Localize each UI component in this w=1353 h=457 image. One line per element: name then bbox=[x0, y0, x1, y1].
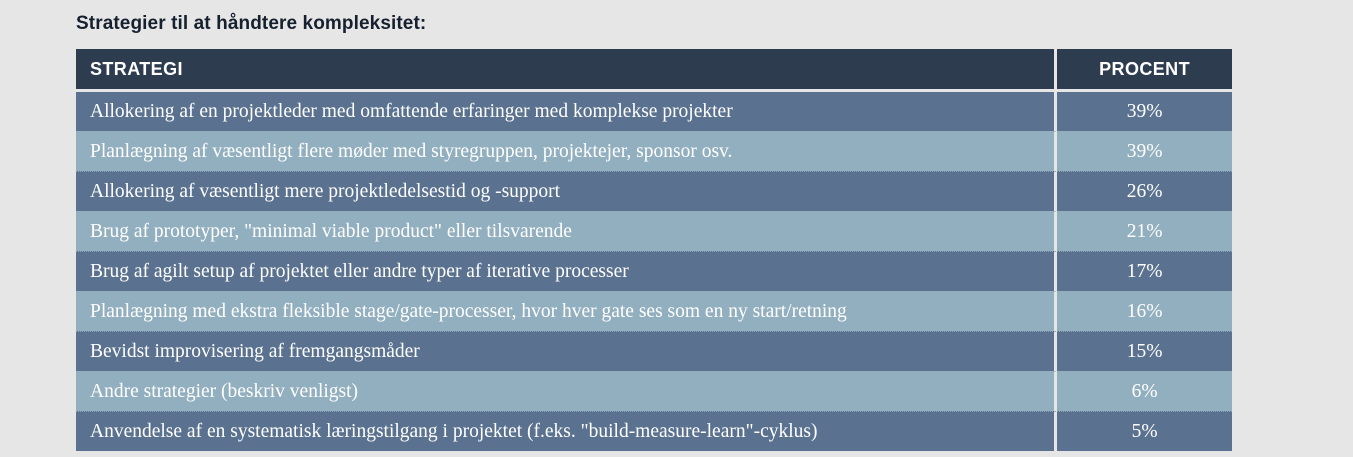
cell-strategy: Anvendelse af en systematisk læringstilg… bbox=[76, 411, 1057, 451]
table-row: Brug af prototyper, "minimal viable prod… bbox=[76, 211, 1232, 251]
cell-percent: 6% bbox=[1057, 371, 1232, 411]
table-head: STRATEGI PROCENT bbox=[76, 49, 1232, 89]
table-header-row: STRATEGI PROCENT bbox=[76, 49, 1232, 89]
cell-percent: 5% bbox=[1057, 411, 1232, 451]
page: Strategier til at håndtere kompleksitet:… bbox=[0, 0, 1353, 457]
cell-strategy: Planlægning med ekstra fleksible stage/g… bbox=[76, 291, 1057, 331]
cell-strategy: Allokering af væsentligt mere projektled… bbox=[76, 171, 1057, 211]
cell-percent: 39% bbox=[1057, 131, 1232, 171]
strategies-table: STRATEGI PROCENT Allokering af en projek… bbox=[76, 49, 1232, 451]
cell-strategy: Andre strategier (beskriv venligst) bbox=[76, 371, 1057, 411]
cell-strategy: Brug af agilt setup af projektet eller a… bbox=[76, 251, 1057, 291]
cell-strategy: Bevidst improvisering af fremgangsmåder bbox=[76, 331, 1057, 371]
table-row: Allokering af en projektleder med omfatt… bbox=[76, 89, 1232, 131]
cell-strategy: Allokering af en projektleder med omfatt… bbox=[76, 89, 1057, 131]
table-row: Anvendelse af en systematisk læringstilg… bbox=[76, 411, 1232, 451]
table-body: Allokering af en projektleder med omfatt… bbox=[76, 89, 1232, 451]
cell-strategy: Brug af prototyper, "minimal viable prod… bbox=[76, 211, 1057, 251]
column-header-percent: PROCENT bbox=[1057, 49, 1232, 89]
table-row: Allokering af væsentligt mere projektled… bbox=[76, 171, 1232, 211]
cell-percent: 15% bbox=[1057, 331, 1232, 371]
cell-percent: 16% bbox=[1057, 291, 1232, 331]
table-row: Planlægning med ekstra fleksible stage/g… bbox=[76, 291, 1232, 331]
table-row: Bevidst improvisering af fremgangsmåder … bbox=[76, 331, 1232, 371]
cell-percent: 26% bbox=[1057, 171, 1232, 211]
table-row: Planlægning af væsentligt flere møder me… bbox=[76, 131, 1232, 171]
cell-percent: 39% bbox=[1057, 89, 1232, 131]
page-title: Strategier til at håndtere kompleksitet: bbox=[76, 13, 426, 35]
table-row: Brug af agilt setup af projektet eller a… bbox=[76, 251, 1232, 291]
cell-percent: 17% bbox=[1057, 251, 1232, 291]
cell-percent: 21% bbox=[1057, 211, 1232, 251]
table-row: Andre strategier (beskriv venligst) 6% bbox=[76, 371, 1232, 411]
column-header-strategy: STRATEGI bbox=[76, 49, 1057, 89]
cell-strategy: Planlægning af væsentligt flere møder me… bbox=[76, 131, 1057, 171]
